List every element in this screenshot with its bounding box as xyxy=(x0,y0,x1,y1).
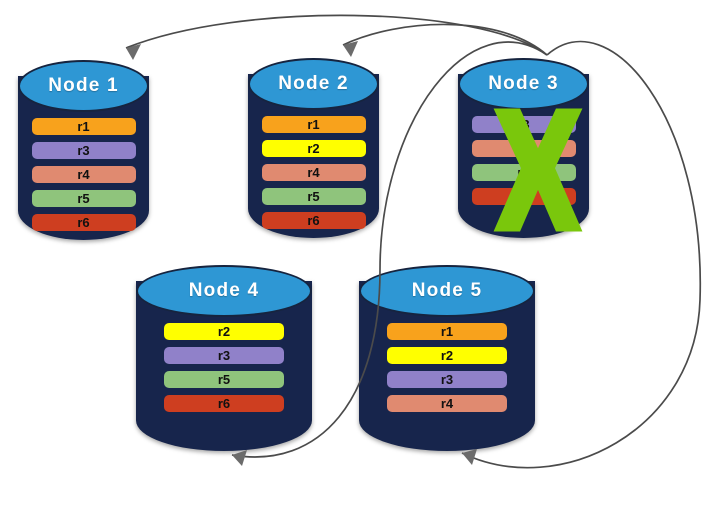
diagram-canvas: Node 1 r1 r3 r4 r5 r6 Node 2 r1 r2 r4 r5… xyxy=(0,0,708,508)
arrow-node3-to-node1 xyxy=(126,15,547,60)
arrow-node3-to-node2 xyxy=(343,24,547,57)
arrow-layer xyxy=(0,0,708,508)
arrow-node3-to-node5 xyxy=(462,42,700,468)
arrow-node3-to-node4 xyxy=(232,42,547,466)
